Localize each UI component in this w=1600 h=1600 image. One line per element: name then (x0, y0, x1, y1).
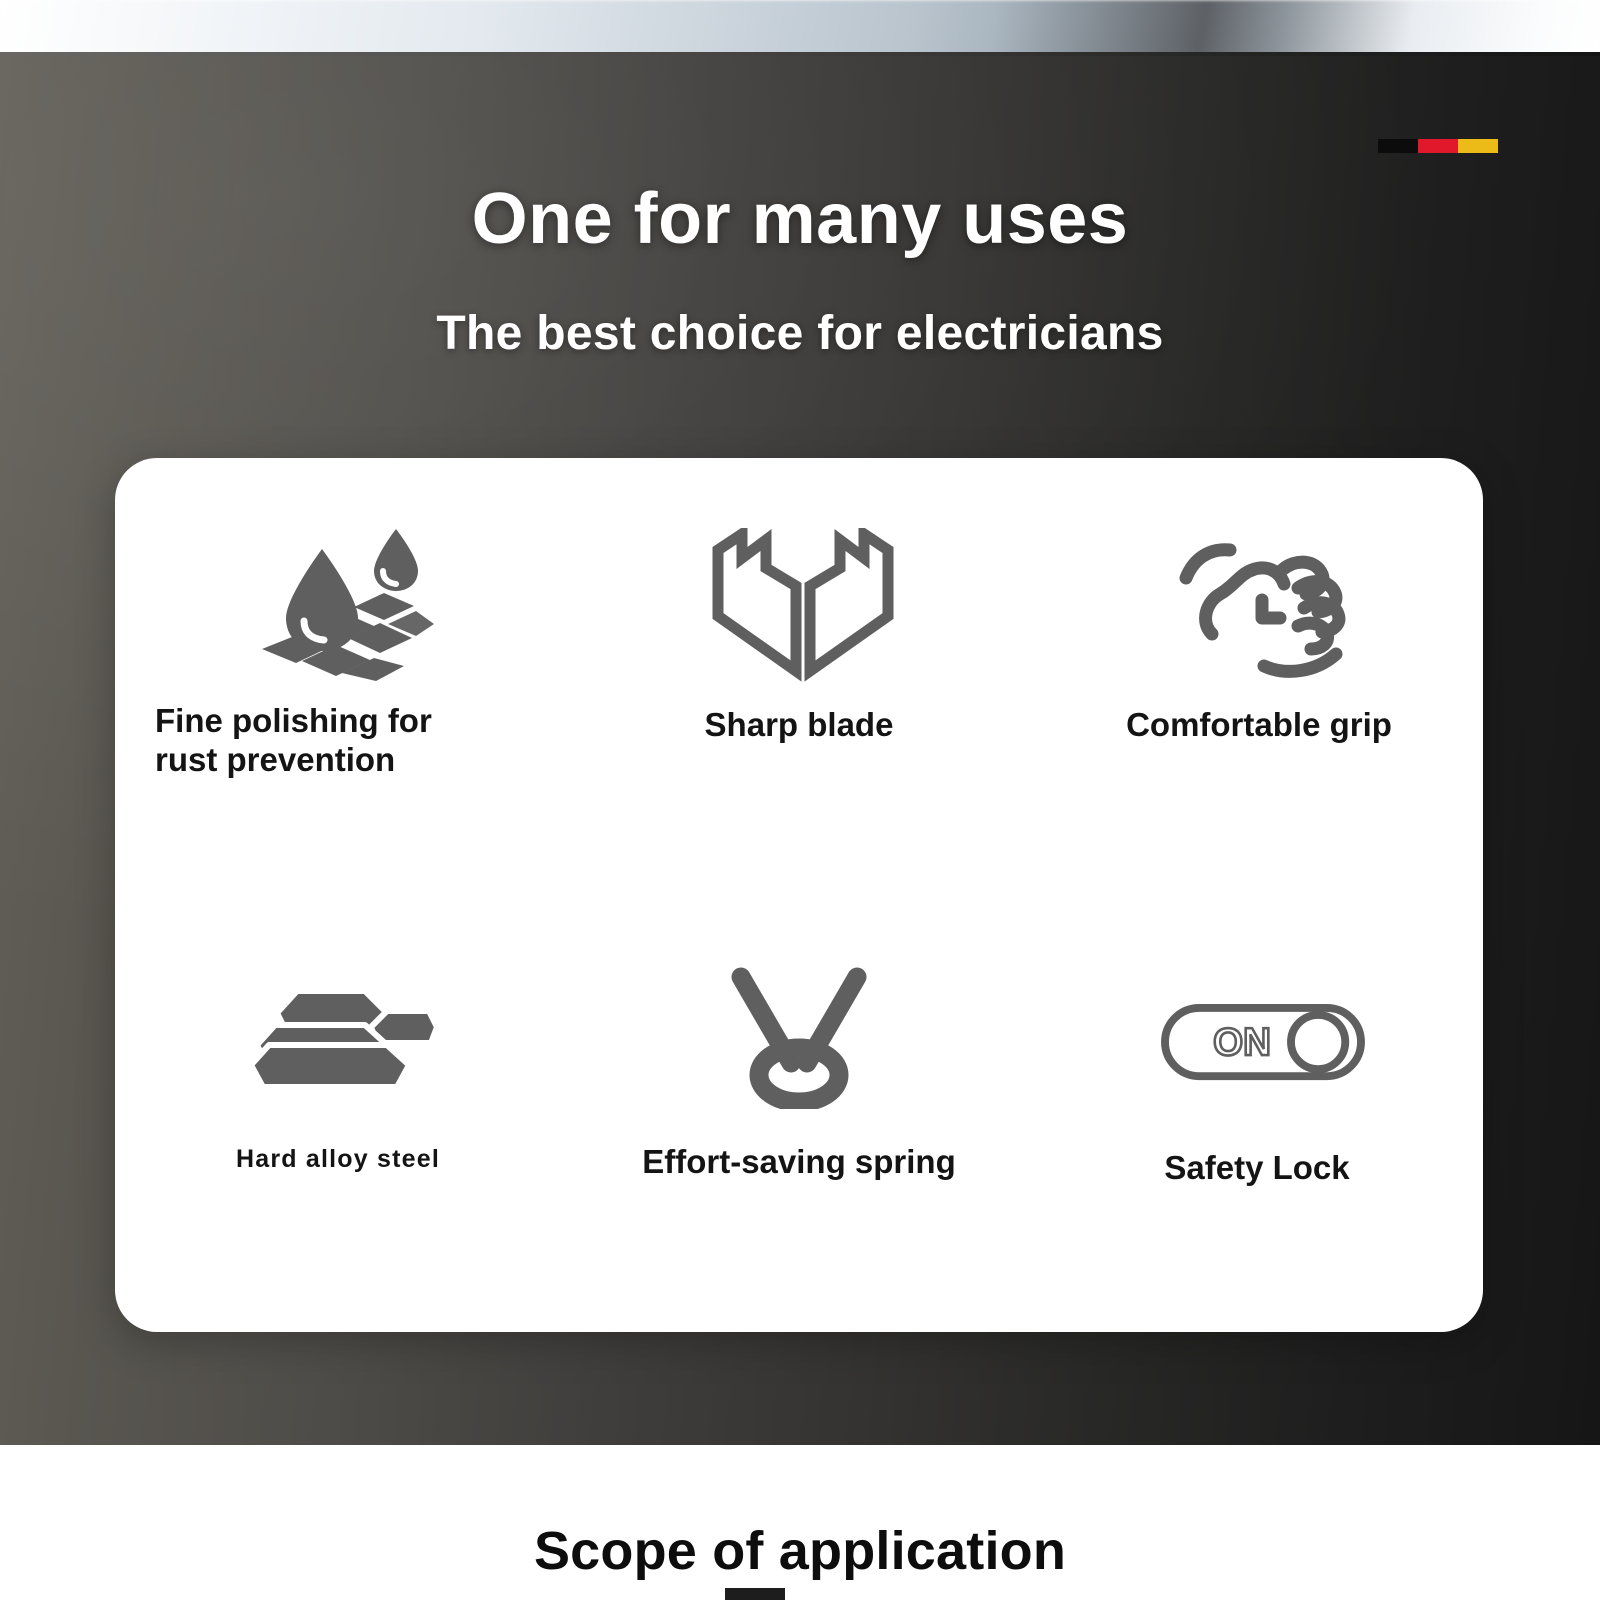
product-feature-page: One for many uses The best choice for el… (0, 0, 1600, 1600)
water-droplets-on-polished-surface-icon (234, 516, 444, 686)
hero-subtitle: The best choice for electricians (0, 306, 1600, 361)
hero-title: One for many uses (0, 178, 1600, 260)
feature-label: Safety Lock (1164, 1149, 1349, 1188)
sharp-blade-jaws-icon (698, 520, 908, 690)
feature-item-rust-prevention[interactable]: Fine polishing for rust prevention (115, 458, 571, 895)
v-spring-icon (694, 949, 904, 1119)
scope-title: Scope of application (0, 1520, 1600, 1582)
feature-item-sharp-blade[interactable]: Sharp blade (571, 458, 1027, 895)
flag-stripe-red (1418, 139, 1458, 153)
feature-label: Sharp blade (705, 706, 894, 745)
metal-ingots-icon (232, 951, 442, 1121)
feature-card: Fine polishing for rust prevention Sharp… (115, 458, 1483, 1332)
feature-label-line1: Fine polishing for (155, 702, 432, 739)
feature-item-safety-lock[interactable]: ON Safety Lock (1027, 895, 1483, 1332)
feature-label: Hard alloy steel (236, 1145, 440, 1175)
flag-stripe-black (1378, 139, 1418, 153)
toggle-on-text: ON (1213, 1021, 1271, 1064)
feature-label: Fine polishing for rust prevention (155, 702, 515, 780)
scope-content-clipped (725, 1588, 785, 1600)
feature-label: Comfortable grip (1126, 706, 1392, 745)
feature-item-hard-alloy-steel[interactable]: Hard alloy steel (115, 895, 571, 1332)
top-photo-strip (0, 0, 1600, 56)
scope-section: Scope of application (0, 1445, 1600, 1600)
feature-item-comfortable-grip[interactable]: Comfortable grip (1027, 458, 1483, 895)
german-flag-bar (1378, 139, 1498, 153)
feature-grid: Fine polishing for rust prevention Sharp… (115, 458, 1483, 1332)
toggle-switch-on-icon: ON (1158, 957, 1368, 1127)
feature-label: Effort-saving spring (642, 1143, 956, 1182)
feature-item-effort-saving-spring[interactable]: Effort-saving spring (571, 895, 1027, 1332)
feature-label-line2: rust prevention (155, 741, 395, 778)
flag-stripe-gold (1458, 139, 1498, 153)
gripping-hand-icon (1156, 518, 1366, 688)
